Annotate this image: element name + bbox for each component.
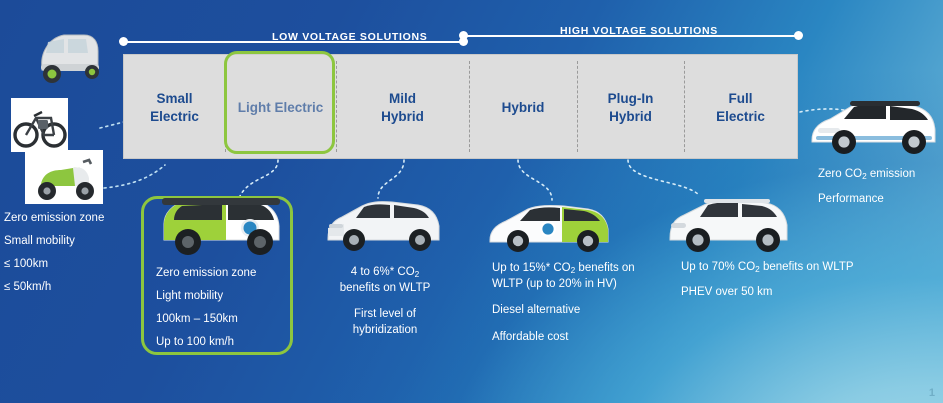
small-electric-detail: Zero emission zone Small mobility ≤ 100k… — [4, 212, 134, 293]
light-electric-detail: Zero emission zone Light mobility 100km … — [156, 267, 296, 348]
category-plug-in-hybrid-label: Plug-InHybrid — [608, 90, 654, 125]
electric-tuk-tuk-photo — [28, 24, 106, 90]
slide-canvas: LOW VOLTAGE SOLUTIONS HIGH VOLTAGE SOLUT… — [0, 0, 943, 403]
high-voltage-label: HIGH VOLTAGE SOLUTIONS — [560, 25, 718, 37]
plug-in-hybrid-suv-photo — [664, 192, 792, 256]
category-full-electric[interactable]: FullElectric — [684, 55, 797, 160]
plug-in-hybrid-line-2: PHEV over 50 km — [681, 286, 871, 298]
category-hybrid[interactable]: Hybrid — [469, 55, 577, 160]
hybrid-line-3: Affordable cost — [492, 330, 642, 346]
hybrid-line-2: Diesel alternative — [492, 303, 642, 319]
category-small-electric[interactable]: SmallElectric — [124, 55, 225, 160]
light-electric-line-3: 100km – 150km — [156, 313, 296, 325]
full-electric-detail: Zero CO2 emission Performance — [818, 168, 943, 205]
light-electric-line-4: Up to 100 km/h — [156, 336, 296, 348]
electric-scooter-photo — [25, 150, 103, 204]
light-electric-line-1: Zero emission zone — [156, 267, 296, 279]
plug-in-hybrid-detail: Up to 70% CO2 benefits on WLTP PHEV over… — [681, 261, 871, 298]
mild-hybrid-line-2: First level of hybridization — [330, 307, 440, 338]
category-full-electric-label: FullElectric — [716, 90, 765, 125]
electric-bicycle-photo — [11, 98, 68, 152]
category-small-electric-label: SmallElectric — [150, 90, 199, 125]
category-plug-in-hybrid[interactable]: Plug-InHybrid — [577, 55, 684, 160]
category-mild-hybrid[interactable]: MildHybrid — [336, 55, 469, 160]
small-electric-line-2: Small mobility — [4, 235, 134, 247]
full-electric-hatchback-photo — [808, 92, 940, 160]
low-voltage-label: LOW VOLTAGE SOLUTIONS — [272, 31, 427, 43]
small-electric-line-1: Zero emission zone — [4, 212, 134, 224]
category-light-electric[interactable]: Light Electric — [225, 55, 336, 160]
plug-in-hybrid-line-1: Up to 70% CO2 benefits on WLTP — [681, 261, 871, 275]
hybrid-line-1: Up to 15%* CO2 benefits on WLTP (up to 2… — [492, 261, 642, 292]
high-voltage-start-node — [459, 31, 468, 40]
category-light-electric-label: Light Electric — [238, 99, 324, 116]
full-electric-line-1: Zero CO2 emission — [818, 168, 943, 182]
small-electric-line-4: ≤ 50km/h — [4, 281, 134, 293]
mild-hybrid-detail: 4 to 6%* CO2 benefits on WLTP First leve… — [330, 265, 440, 338]
full-electric-line-2: Performance — [818, 193, 943, 205]
light-electric-line-2: Light mobility — [156, 290, 296, 302]
hybrid-hatchback-photo — [484, 198, 614, 258]
small-electric-line-3: ≤ 100km — [4, 258, 134, 270]
category-mild-hybrid-label: MildHybrid — [381, 90, 424, 125]
low-voltage-start-node — [119, 37, 128, 46]
page-number: 1 — [929, 387, 935, 399]
mild-hybrid-line-1: 4 to 6%* CO2 benefits on WLTP — [330, 265, 440, 296]
solutions-band: SmallElectric Light Electric MildHybrid … — [123, 54, 798, 159]
hybrid-detail: Up to 15%* CO2 benefits on WLTP (up to 2… — [492, 261, 642, 345]
mild-hybrid-suv-photo — [322, 194, 444, 256]
category-hybrid-label: Hybrid — [502, 99, 545, 116]
light-electric-quadricycle-photo — [146, 190, 294, 258]
high-voltage-end-node — [794, 31, 803, 40]
